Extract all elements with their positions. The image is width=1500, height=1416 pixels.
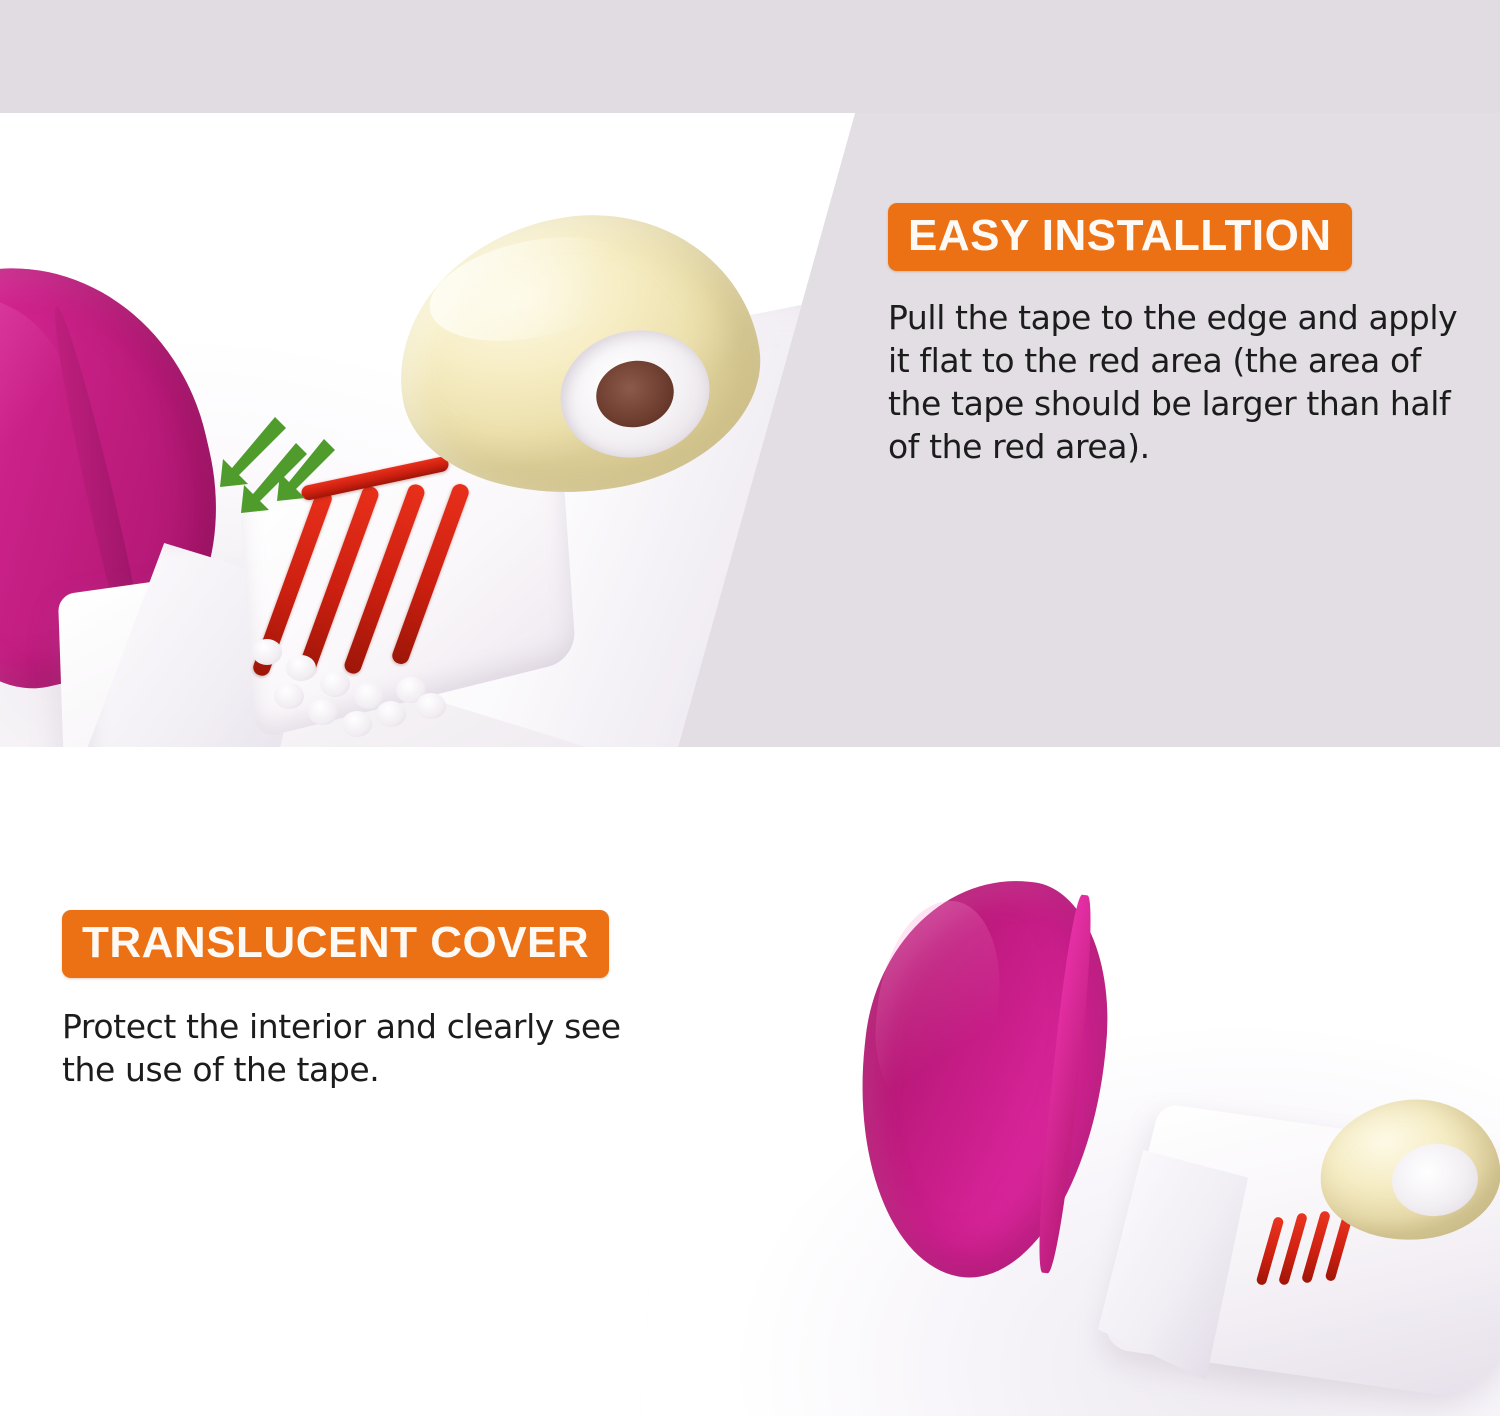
panel-separator <box>0 747 1500 818</box>
green-arrows-annotation <box>212 413 342 533</box>
product-photo-installation <box>0 113 870 747</box>
section-easy-installation: EASY INSTALLTION Pull the tape to the ed… <box>0 0 1500 747</box>
infographic-page: EASY INSTALLTION Pull the tape to the ed… <box>0 0 1500 1416</box>
cover-body-text: Protect the interior and clearly see the… <box>62 1006 647 1092</box>
cover-text-block: TRANSLUCENT COVER Protect the interior a… <box>62 910 762 1092</box>
installation-body-text: Pull the tape to the edge and apply it f… <box>888 297 1468 469</box>
heading-badge-easy-installation: EASY INSTALLTION <box>888 203 1352 271</box>
dispenser-ridges <box>230 583 560 747</box>
installation-text-block: EASY INSTALLTION Pull the tape to the ed… <box>888 203 1468 469</box>
heading-badge-translucent-cover: TRANSLUCENT COVER <box>62 910 609 978</box>
top-color-band <box>0 0 1500 113</box>
